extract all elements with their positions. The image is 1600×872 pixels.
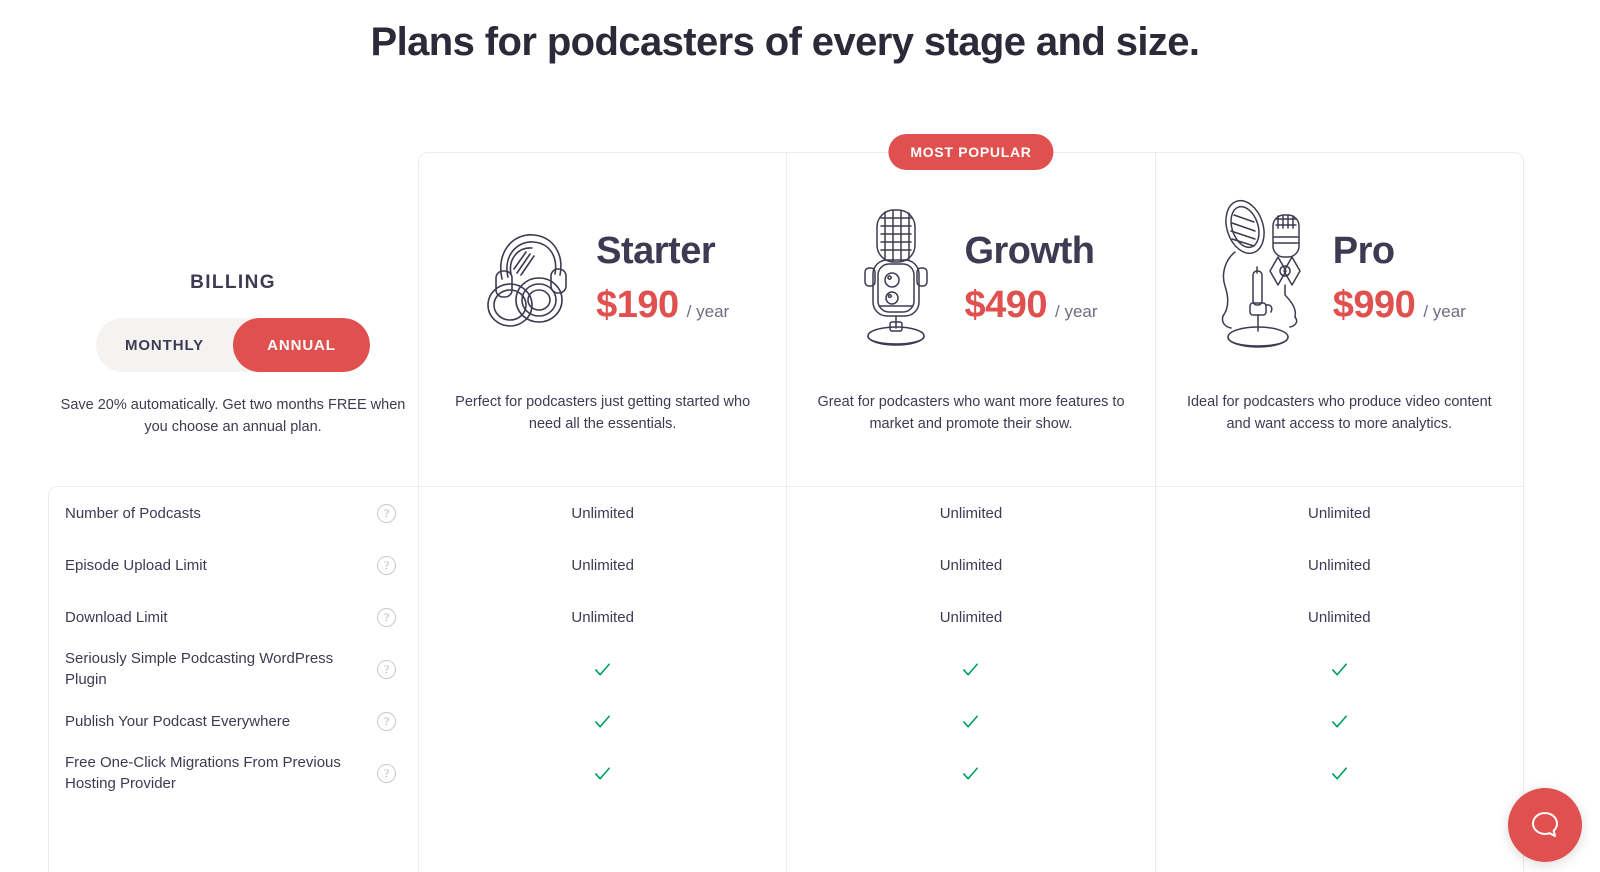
check-icon bbox=[961, 764, 980, 783]
plan-value-cell: Unlimited bbox=[1156, 487, 1523, 539]
help-icon[interactable]: ? bbox=[377, 504, 396, 523]
plan-meta-starter: Starter $190 / year bbox=[596, 228, 729, 327]
feature-label-row: Download Limit ? bbox=[49, 591, 418, 643]
plan-value-cell: Unlimited bbox=[787, 487, 1154, 539]
plan-header-starter: Starter $190 / year Perfect for podcaste… bbox=[419, 153, 786, 487]
plan-value-cell: Unlimited bbox=[1156, 539, 1523, 591]
check-icon bbox=[1330, 764, 1349, 783]
plan-value-cell bbox=[1156, 695, 1523, 747]
billing-period-toggle[interactable]: MONTHLY ANNUAL bbox=[96, 318, 370, 372]
feature-label: Number of Podcasts bbox=[65, 503, 211, 524]
plan-column-starter: Starter $190 / year Perfect for podcaste… bbox=[419, 153, 787, 872]
check-icon bbox=[593, 712, 612, 731]
plan-header-pro: Pro $990 / year Ideal for podcasters who… bbox=[1156, 153, 1523, 487]
plan-value-cell bbox=[787, 643, 1154, 695]
plan-top-pro: Pro $990 / year bbox=[1156, 153, 1523, 391]
plan-value-cell: Unlimited bbox=[787, 591, 1154, 643]
plan-value-cell: Unlimited bbox=[1156, 591, 1523, 643]
feature-label: Publish Your Podcast Everywhere bbox=[65, 711, 300, 732]
plan-price-row: $990 / year bbox=[1333, 284, 1466, 327]
plan-price: $490 bbox=[964, 284, 1047, 327]
plan-value-cell bbox=[1156, 643, 1523, 695]
help-icon[interactable]: ? bbox=[377, 608, 396, 627]
plan-value-cell: Unlimited bbox=[419, 487, 786, 539]
help-icon[interactable]: ? bbox=[377, 660, 396, 679]
plan-value-cell bbox=[787, 695, 1154, 747]
plan-description: Great for podcasters who want more featu… bbox=[787, 391, 1154, 435]
plan-value-cell: Unlimited bbox=[787, 539, 1154, 591]
plan-header-growth: MOST POPULAR bbox=[787, 153, 1154, 487]
chat-widget-button[interactable] bbox=[1508, 788, 1582, 862]
page-title: Plans for podcasters of every stage and … bbox=[0, 16, 1570, 68]
studio-microphone-pop-filter-icon bbox=[1213, 202, 1317, 352]
plan-value-cell bbox=[419, 643, 786, 695]
help-icon[interactable]: ? bbox=[377, 556, 396, 575]
plan-period: / year bbox=[1423, 302, 1466, 322]
feature-label: Download Limit bbox=[65, 607, 178, 628]
feature-label-row: Free One-Click Migrations From Previous … bbox=[49, 747, 418, 799]
feature-label: Episode Upload Limit bbox=[65, 555, 217, 576]
plan-column-pro: Pro $990 / year Ideal for podcasters who… bbox=[1156, 153, 1523, 872]
headphones-icon bbox=[476, 202, 580, 352]
plan-period: / year bbox=[1055, 302, 1098, 322]
plan-value-cell bbox=[787, 747, 1154, 799]
desk-microphone-icon bbox=[844, 202, 948, 352]
plan-value-cell: Unlimited bbox=[419, 539, 786, 591]
plan-name: Growth bbox=[964, 228, 1097, 274]
help-icon[interactable]: ? bbox=[377, 764, 396, 783]
billing-block: BILLING MONTHLY ANNUAL Save 20% automati… bbox=[48, 272, 418, 438]
plan-description: Ideal for podcasters who produce video c… bbox=[1156, 391, 1523, 435]
plan-description: Perfect for podcasters just getting star… bbox=[419, 391, 786, 435]
plan-price: $990 bbox=[1333, 284, 1416, 327]
plan-price-row: $490 / year bbox=[964, 284, 1097, 327]
check-icon bbox=[961, 660, 980, 679]
plan-value-cell bbox=[1156, 747, 1523, 799]
billing-column: BILLING MONTHLY ANNUAL Save 20% automati… bbox=[48, 152, 418, 872]
plan-meta-pro: Pro $990 / year bbox=[1333, 228, 1466, 327]
feature-label-row: Episode Upload Limit ? bbox=[49, 539, 418, 591]
feature-label-row: Publish Your Podcast Everywhere ? bbox=[49, 695, 418, 747]
feature-label-panel: Number of Podcasts ? Episode Upload Limi… bbox=[48, 486, 418, 872]
plan-top-starter: Starter $190 / year bbox=[419, 153, 786, 391]
billing-label: BILLING bbox=[48, 272, 418, 294]
check-icon bbox=[1330, 712, 1349, 731]
feature-label: Seriously Simple Podcasting WordPress Pl… bbox=[65, 648, 377, 690]
plan-meta-growth: Growth $490 / year bbox=[964, 228, 1097, 327]
plan-name: Pro bbox=[1333, 228, 1466, 274]
help-icon[interactable]: ? bbox=[377, 712, 396, 731]
plan-column-growth: MOST POPULAR bbox=[787, 153, 1155, 872]
check-icon bbox=[593, 660, 612, 679]
feature-label: Free One-Click Migrations From Previous … bbox=[65, 752, 377, 794]
plan-value-cell bbox=[419, 695, 786, 747]
feature-label-row: Number of Podcasts ? bbox=[49, 487, 418, 539]
plan-period: / year bbox=[687, 302, 730, 322]
most-popular-badge: MOST POPULAR bbox=[888, 134, 1053, 170]
plan-values-pro: Unlimited Unlimited Unlimited bbox=[1156, 487, 1523, 799]
plan-top-growth: Growth $490 / year bbox=[787, 153, 1154, 391]
pricing-comparison: BILLING MONTHLY ANNUAL Save 20% automati… bbox=[48, 152, 1524, 872]
check-icon bbox=[593, 764, 612, 783]
check-icon bbox=[961, 712, 980, 731]
plan-value-cell bbox=[419, 747, 786, 799]
chat-bubble-icon bbox=[1528, 808, 1562, 842]
plan-values-growth: Unlimited Unlimited Unlimited bbox=[787, 487, 1154, 799]
plan-value-cell: Unlimited bbox=[419, 591, 786, 643]
feature-label-row: Seriously Simple Podcasting WordPress Pl… bbox=[49, 643, 418, 695]
billing-savings-note: Save 20% automatically. Get two months F… bbox=[48, 394, 418, 438]
plan-price-row: $190 / year bbox=[596, 284, 729, 327]
plan-name: Starter bbox=[596, 228, 729, 274]
pricing-page: Plans for podcasters of every stage and … bbox=[0, 0, 1600, 872]
check-icon bbox=[1330, 660, 1349, 679]
toggle-option-annual[interactable]: ANNUAL bbox=[233, 318, 370, 372]
toggle-option-monthly[interactable]: MONTHLY bbox=[96, 318, 233, 372]
plan-price: $190 bbox=[596, 284, 679, 327]
plans-container: Starter $190 / year Perfect for podcaste… bbox=[418, 152, 1524, 872]
plan-values-starter: Unlimited Unlimited Unlimited bbox=[419, 487, 786, 799]
